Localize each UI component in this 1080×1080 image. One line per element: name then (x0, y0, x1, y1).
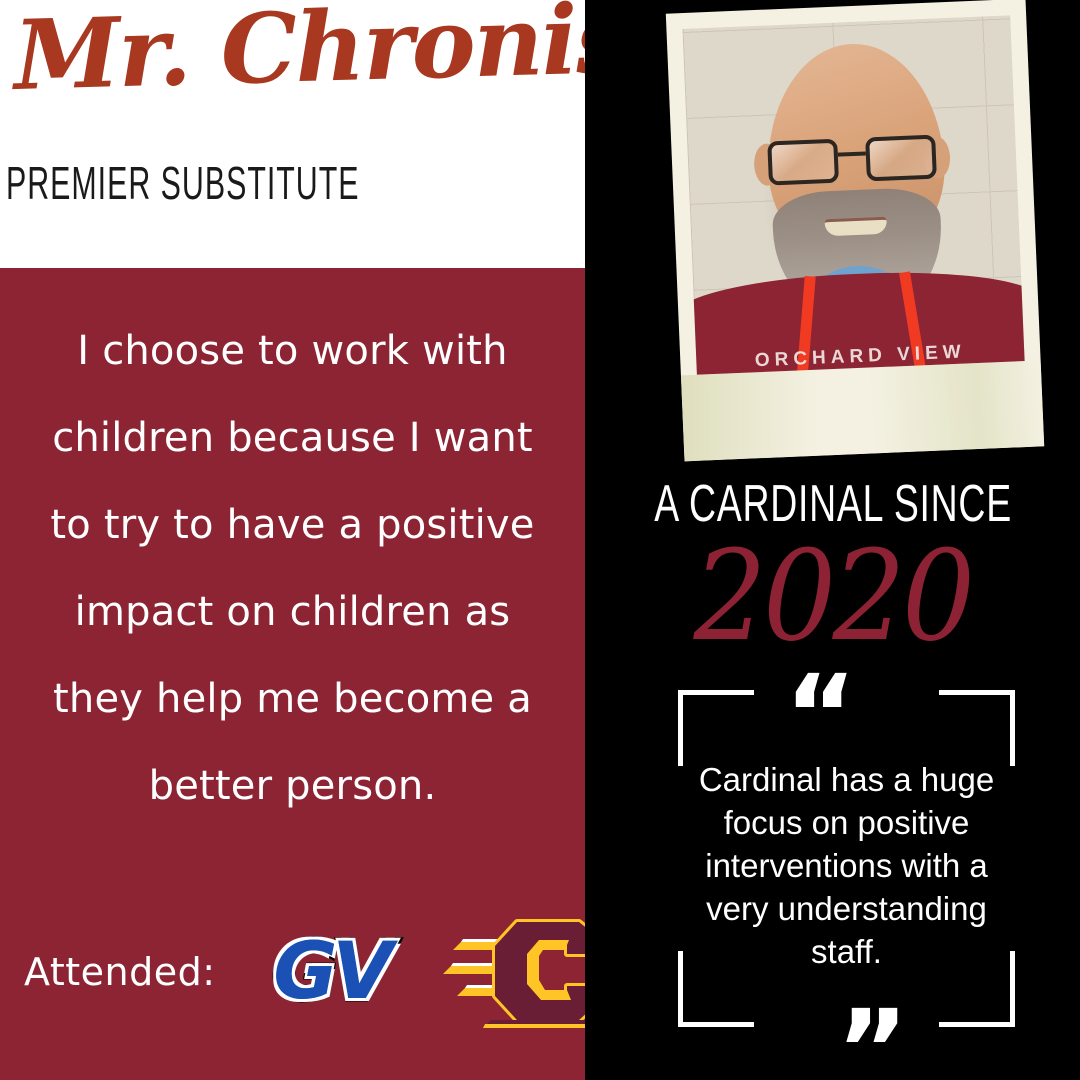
staff-role: PREMIER SUBSTITUTE (6, 160, 360, 206)
right-column: ORCHARD VIEW A CARDINAL SINCE 2020 “ Car… (585, 0, 1080, 1080)
lens-right (865, 135, 937, 182)
cardinal-since-year: 2020 (605, 534, 1060, 659)
header-panel: Mr. Chronister PREMIER SUBSTITUTE (0, 0, 585, 268)
quote-panel: I choose to work with children because I… (0, 268, 585, 1080)
polaroid-frame: ORCHARD VIEW (666, 0, 1044, 461)
staff-photo: ORCHARD VIEW (682, 15, 1024, 376)
attended-row: Attended: GV GV (0, 912, 585, 1032)
cmu-flying-c-logo (439, 916, 604, 1028)
main-quote-text: I choose to work with children because I… (26, 308, 559, 830)
staff-name: Mr. Chronister (13, 0, 575, 104)
glasses-bridge (838, 151, 866, 156)
testimonial-box: “ Cardinal has a huge focus on positive … (678, 690, 1015, 1027)
gvsu-logo: GV GV (261, 916, 401, 1028)
close-quote-icon: ” (836, 995, 908, 1080)
gvsu-logo-fill: GV (261, 920, 401, 1024)
cmu-logo-svg (439, 916, 604, 1028)
bracket-top-right (939, 690, 1015, 766)
left-column: Mr. Chronister PREMIER SUBSTITUTE I choo… (0, 0, 585, 1080)
mouth (825, 217, 888, 237)
bracket-top-left (678, 690, 754, 766)
open-quote-icon: “ (785, 660, 857, 770)
lens-left (767, 139, 839, 186)
attended-label: Attended: (24, 950, 216, 994)
testimonial-text: Cardinal has a huge focus on positive in… (690, 758, 1003, 973)
glasses-icon (767, 135, 937, 188)
staff-spotlight-poster: Mr. Chronister PREMIER SUBSTITUTE I choo… (0, 0, 1080, 1080)
cardinal-since-label: A CARDINAL SINCE (654, 478, 1010, 530)
